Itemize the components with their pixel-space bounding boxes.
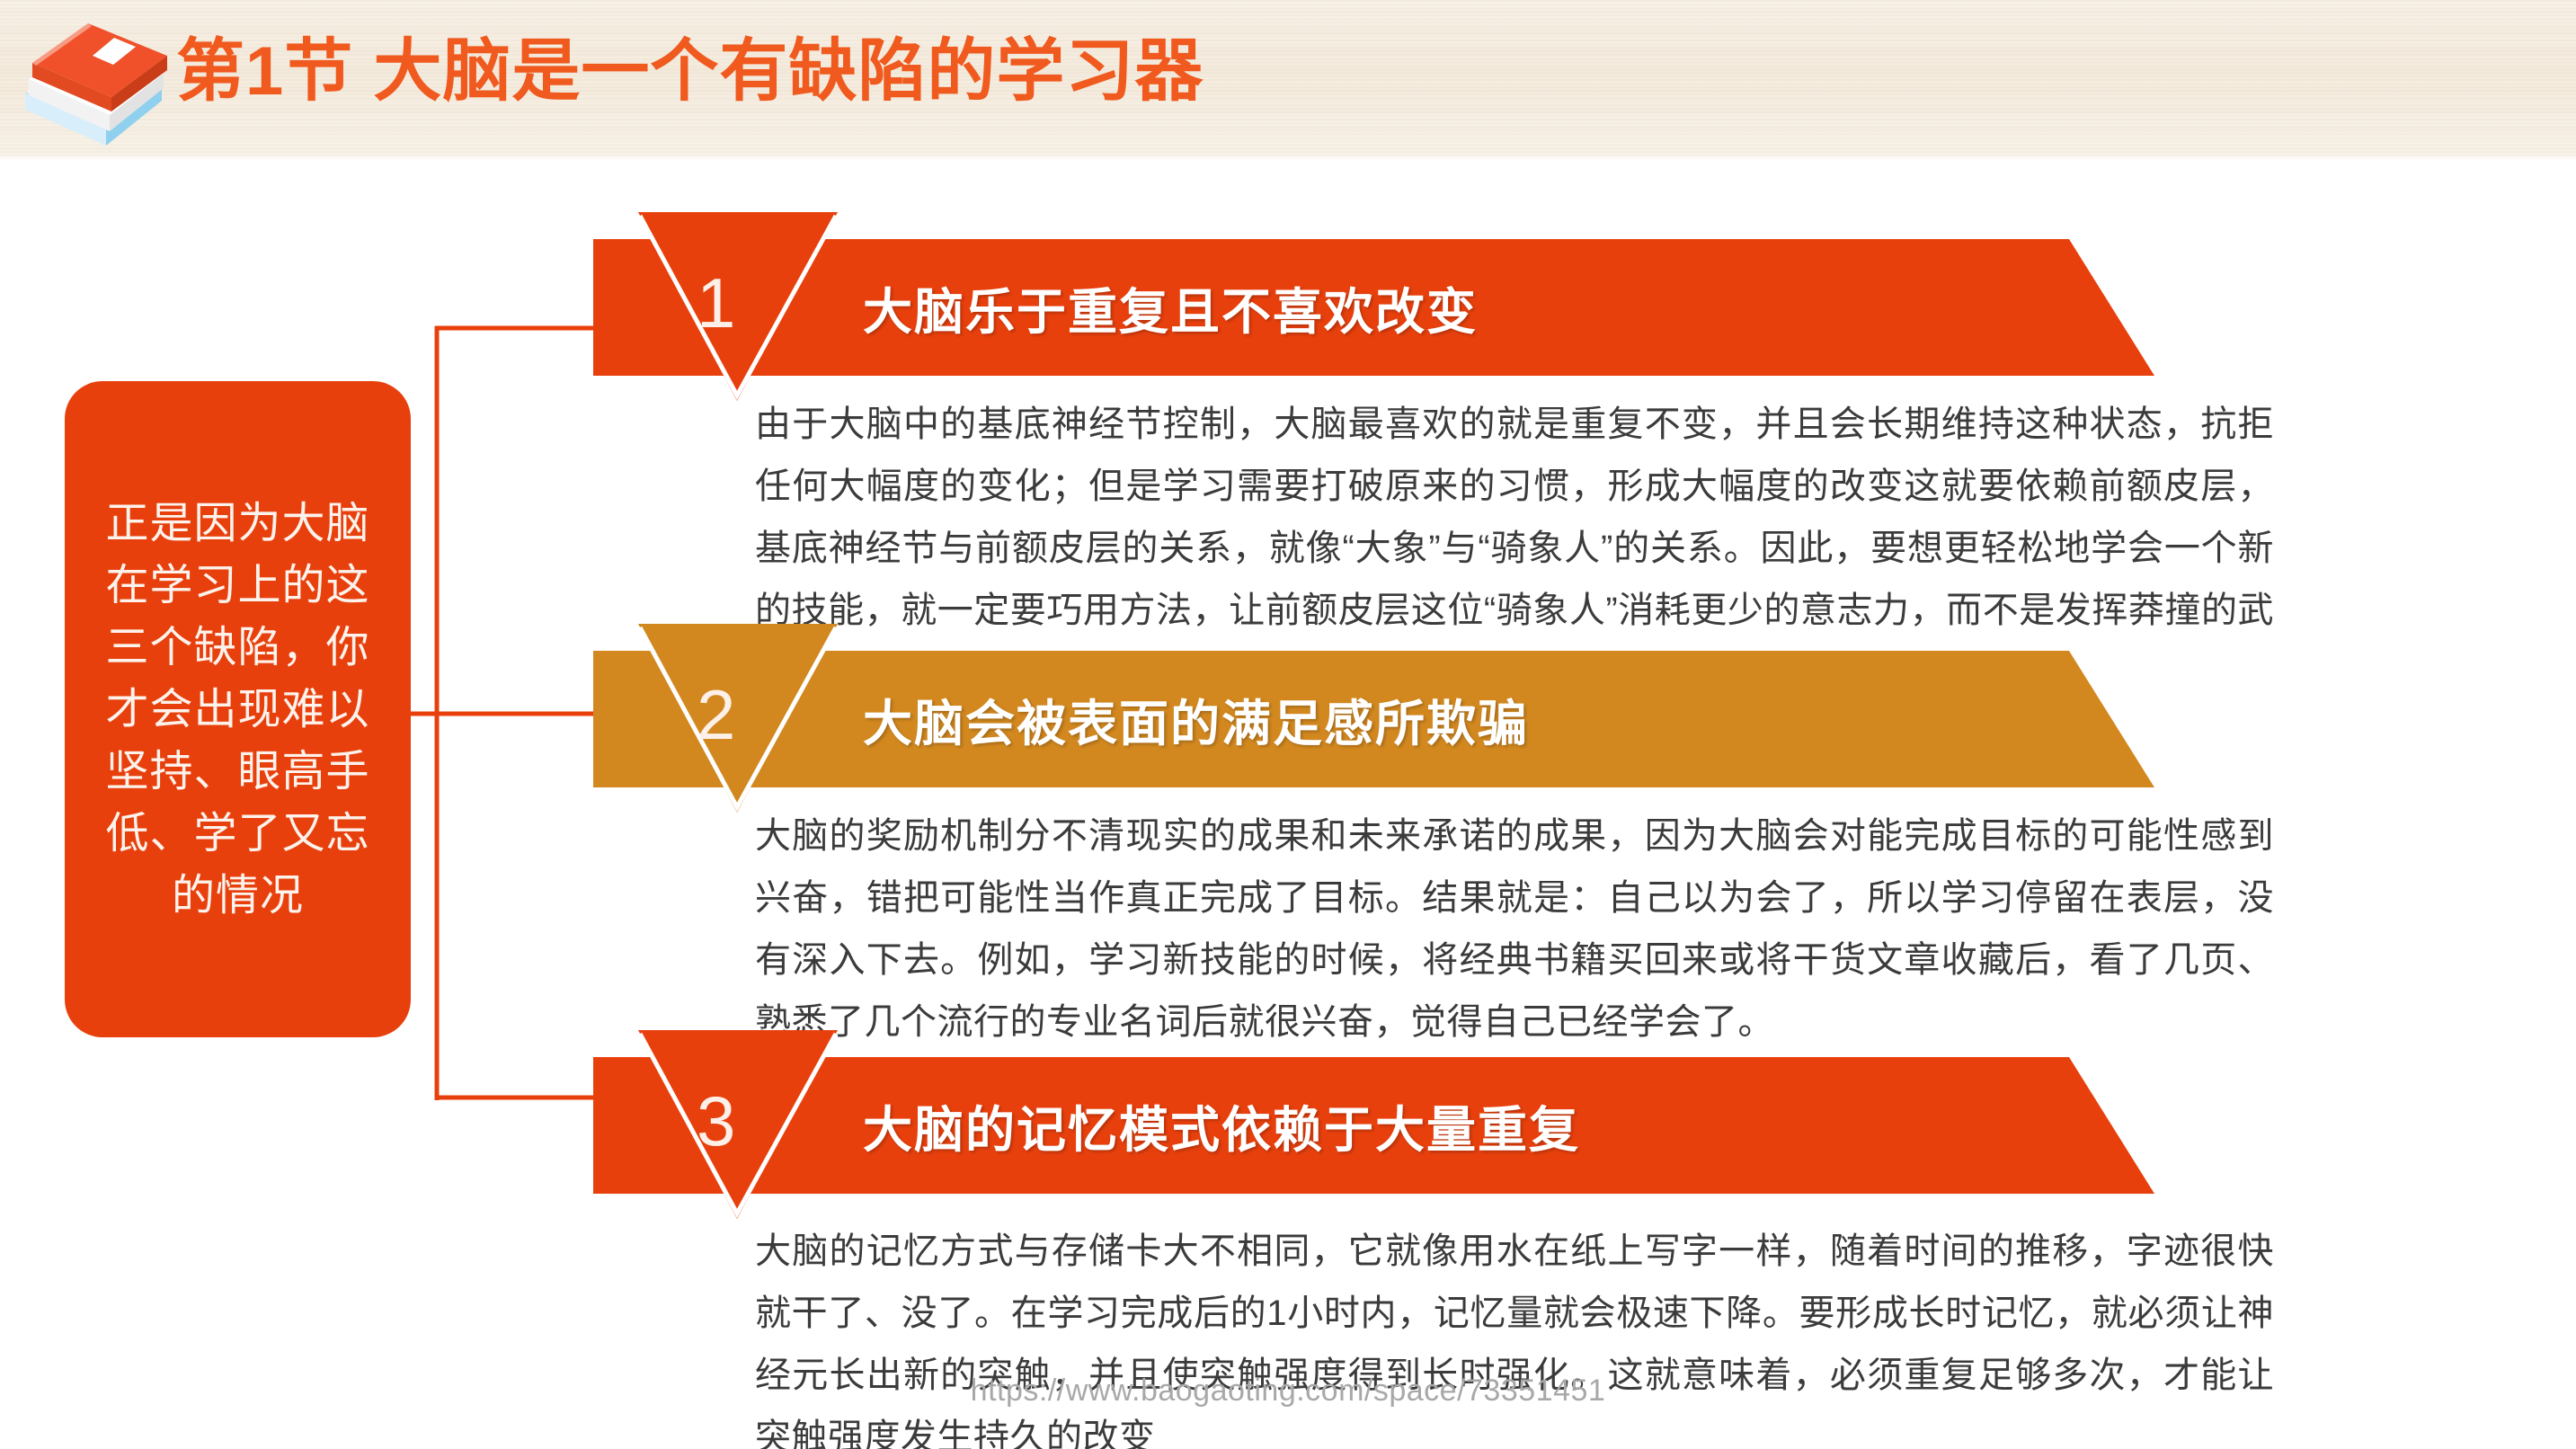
source-url-watermark: https://www.baogaoting.com/space/7335145… bbox=[0, 1373, 2576, 1409]
section-body-3: 大脑的记忆方式与存储卡大不相同，它就像用水在纸上写字一样，随着时间的推移，字迹很… bbox=[755, 1221, 2274, 1449]
section-body-2: 大脑的奖励机制分不清现实的成果和未来承诺的成果，因为大脑会对能完成目标的可能性感… bbox=[755, 805, 2274, 1053]
summary-callout-box: 正是因为大脑在学习上的这三个缺陷，你才会出现难以坚持、眼高手低、学了又忘的情况 bbox=[65, 381, 411, 1037]
section-banner-3[interactable]: 3 大脑的记忆模式依赖于大量重复 bbox=[593, 1030, 2175, 1210]
page-title: 第1节 大脑是一个有缺陷的学习器 bbox=[176, 18, 1204, 126]
summary-text: 正是因为大脑在学习上的这三个缺陷，你才会出现难以坚持、眼高手低、学了又忘的情况 bbox=[99, 493, 378, 927]
slide-header: 第1节 大脑是一个有缺陷的学习器 bbox=[0, 0, 2576, 160]
slide-root: 第1节 大脑是一个有缺陷的学习器 正是因为大脑在学习上的这三个缺陷，你才会出现难… bbox=[0, 0, 2576, 1449]
section-banner-1[interactable]: 1 大脑乐于重复且不喜欢改变 bbox=[593, 212, 2175, 392]
section-banner-2[interactable]: 2 大脑会被表面的满足感所欺骗 bbox=[593, 624, 2175, 804]
stacked-books-icon bbox=[13, 11, 174, 146]
